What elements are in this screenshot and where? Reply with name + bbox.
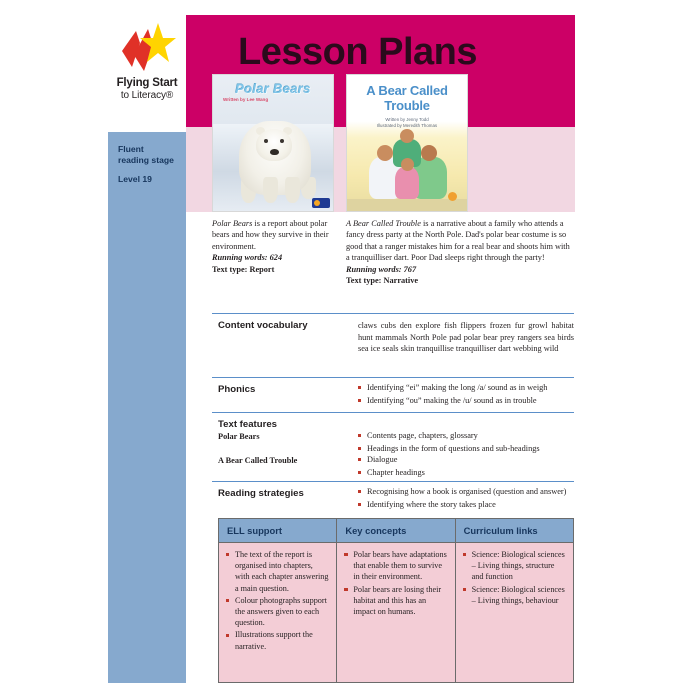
reading-stage-label: Fluent reading stage: [118, 144, 186, 166]
row-label-text-features: Text features: [218, 419, 277, 430]
bear-eye: [280, 139, 284, 143]
divider: [212, 313, 574, 314]
list-item: The text of the report is organised into…: [226, 549, 329, 594]
lesson-plan-page: Flying Start to Literacy® Fluent reading…: [0, 0, 700, 700]
column-header-curriculum-links: Curriculum links: [456, 519, 573, 543]
credit-written-by: Written by Jenny Todd: [385, 117, 428, 122]
book-cover-a-bear-called-trouble: A Bear Called Trouble Written by Jenny T…: [346, 74, 468, 212]
content-vocabulary-words: claws cubs den explore fish flippers fro…: [358, 320, 574, 355]
bear-leg: [285, 177, 300, 203]
running-words-label: Running words:: [212, 253, 268, 262]
text-features-book-1: Polar Bears: [218, 432, 260, 441]
list-item: Chapter headings: [358, 467, 574, 479]
figure-girl-head: [401, 158, 414, 171]
list-item: Illustrations support the narrative.: [226, 629, 329, 651]
brand-logo: Flying Start to Literacy®: [108, 15, 186, 127]
flying-start-star-icon: [120, 21, 176, 73]
list-item: Identifying “ei” making the long /a/ sou…: [358, 382, 574, 394]
row-label-reading-strategies: Reading strategies: [218, 488, 304, 499]
toy-ball: [448, 192, 457, 201]
figure-dad-head: [377, 145, 393, 161]
column-body-curriculum-links: Science: Biological sciences – Living th…: [456, 543, 573, 682]
blurb-book-title: Polar Bears: [212, 219, 252, 228]
bear-leg: [263, 177, 278, 203]
text-type-line: Text type: Narrative: [346, 275, 574, 286]
text-type-value: Narrative: [384, 276, 419, 285]
brand-name: Flying Start: [108, 77, 186, 89]
list-item: Science: Biological sciences – Living th…: [463, 584, 566, 606]
list-item: Dialogue: [358, 454, 574, 466]
badge-dot: [314, 200, 320, 206]
figure-mum-head: [421, 145, 437, 161]
text-type-line: Text type: Report: [212, 264, 336, 275]
column-header-ell-support: ELL support: [219, 519, 336, 543]
blurb-a-bear-called-trouble: A Bear Called Trouble is a narrative abo…: [346, 218, 574, 286]
running-words-value: 624: [270, 253, 282, 262]
divider: [212, 481, 574, 482]
credit-illustrated-by: Illustrated by Meredith Thomas: [377, 123, 437, 128]
cover-credit-polar-bears: Written by Lee Wang: [223, 97, 268, 102]
table-column-curriculum-links: Curriculum links Science: Biological sci…: [456, 519, 573, 682]
list-item: Colour photographs support the answers g…: [226, 595, 329, 629]
figure-boy-head: [400, 129, 414, 143]
list-item: Identifying where the story takes place: [358, 499, 574, 511]
running-words-value: 767: [404, 265, 416, 274]
cover-title-polar-bears: Polar Bears: [213, 81, 333, 96]
support-table: ELL support The text of the report is or…: [218, 518, 574, 683]
level-label: Level 19: [118, 174, 152, 184]
row-label-content-vocabulary: Content vocabulary: [218, 320, 308, 331]
column-body-ell-support: The text of the report is organised into…: [219, 543, 336, 682]
bear-eye: [264, 139, 268, 143]
column-header-key-concepts: Key concepts: [337, 519, 454, 543]
cover-credit-a-bear-called-trouble: Written by Jenny Todd Illustrated by Mer…: [347, 117, 467, 129]
list-item: Polar bears have adaptations that enable…: [344, 549, 447, 583]
page-title: Lesson Plans: [238, 31, 477, 74]
reading-strategies-list: Recognising how a book is organised (que…: [358, 486, 574, 511]
reading-stage-panel: Fluent reading stage Level 19: [108, 132, 186, 683]
running-words-label: Running words:: [346, 265, 402, 274]
text-type-label: Text type:: [346, 276, 381, 285]
brand-tagline: to Literacy®: [108, 90, 186, 101]
running-words-line: Running words: 767: [346, 264, 574, 275]
list-item: Identifying “ou” making the /u/ sound as…: [358, 395, 574, 407]
stage-line-1: Fluent: [118, 144, 144, 154]
table-column-ell-support: ELL support The text of the report is or…: [219, 519, 337, 682]
list-item: Contents page, chapters, glossary: [358, 430, 574, 442]
bear-nose: [270, 149, 279, 155]
table-column-key-concepts: Key concepts Polar bears have adaptation…: [337, 519, 455, 682]
list-item: Recognising how a book is organised (que…: [358, 486, 574, 498]
row-label-phonics: Phonics: [218, 384, 255, 395]
text-type-label: Text type:: [212, 265, 247, 274]
running-words-line: Running words: 624: [212, 252, 336, 263]
text-features-list-1: Contents page, chapters, glossary Headin…: [358, 430, 574, 455]
polar-bear-head: [256, 129, 292, 161]
text-features-book-2: A Bear Called Trouble: [218, 456, 297, 465]
cover-title-a-bear-called-trouble: A Bear Called Trouble: [347, 83, 467, 113]
book-cover-polar-bears: Polar Bears Written by Lee Wang: [212, 74, 334, 212]
text-features-list-2: Dialogue Chapter headings: [358, 454, 574, 479]
phonics-list: Identifying “ei” making the long /a/ sou…: [358, 382, 574, 407]
column-body-key-concepts: Polar bears have adaptations that enable…: [337, 543, 454, 682]
stage-line-2: reading stage: [118, 155, 174, 165]
publisher-badge: [312, 198, 330, 208]
divider: [212, 412, 574, 413]
figure-girl: [395, 167, 419, 199]
divider: [212, 377, 574, 378]
list-item: Headings in the form of questions and su…: [358, 443, 574, 455]
blurb-polar-bears: Polar Bears is a report about polar bear…: [212, 218, 336, 275]
blurb-book-title: A Bear Called Trouble: [346, 219, 421, 228]
list-item: Science: Biological sciences – Living th…: [463, 549, 566, 583]
text-type-value: Report: [250, 265, 275, 274]
cover-floor: [347, 199, 467, 211]
list-item: Polar bears are losing their habitat and…: [344, 584, 447, 618]
